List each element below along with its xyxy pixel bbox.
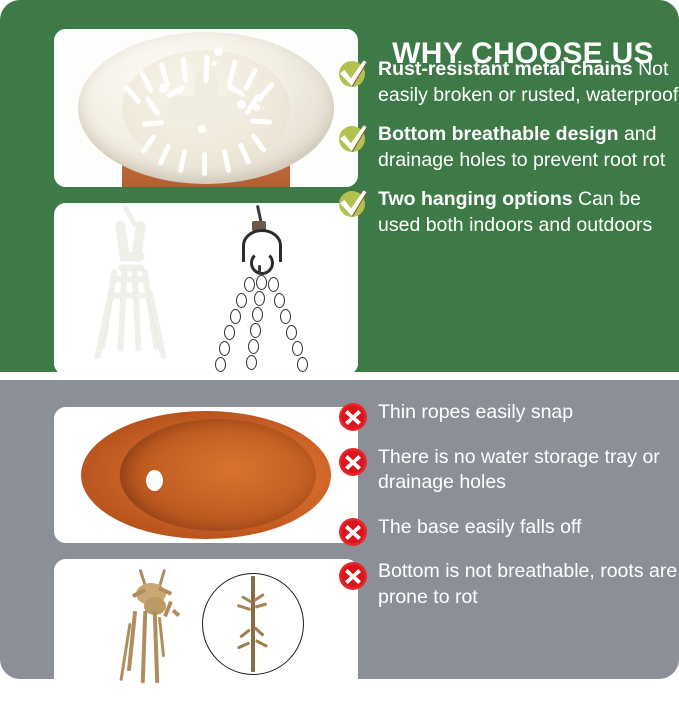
check-circle-icon bbox=[337, 58, 369, 90]
cons-photo-column bbox=[14, 391, 318, 706]
cons-list-item: The base easily falls off bbox=[333, 515, 679, 541]
pros-list-item: Bottom breathable design and drainage ho… bbox=[333, 122, 679, 173]
pros-item-bold: Rust-resistant metal chains bbox=[378, 58, 633, 80]
pros-list-item: Two hanging options Can be used both ind… bbox=[333, 187, 679, 238]
metal-chain-hanger bbox=[214, 203, 334, 375]
pros-item-text: Rust-resistant metal chains Not easily b… bbox=[378, 57, 679, 108]
pros-bullet-list: Rust-resistant metal chains Not easily b… bbox=[333, 57, 679, 252]
cons-list-item: Thin ropes easily snap bbox=[333, 400, 679, 426]
magnifier-circle bbox=[202, 573, 304, 675]
comparison-infographic: WHY CHOOSE US Rust-resistant metal chain… bbox=[0, 0, 679, 679]
cons-item-text: The base easily falls off bbox=[378, 515, 679, 541]
planter-base-drainage-photo bbox=[54, 29, 358, 187]
cons-panel: Thin ropes easily snap There is no water… bbox=[0, 380, 679, 679]
single-drain-hole bbox=[146, 470, 163, 491]
pros-list-item: Rust-resistant metal chains Not easily b… bbox=[333, 57, 679, 108]
pros-item-text: Two hanging options Can be used both ind… bbox=[378, 187, 679, 238]
pros-photo-column bbox=[14, 13, 318, 391]
cons-bullet-list: Thin ropes easily snap There is no water… bbox=[333, 400, 679, 629]
x-circle-icon bbox=[338, 402, 368, 432]
cons-item-text: There is no water storage tray or draina… bbox=[378, 445, 679, 496]
x-circle-icon bbox=[338, 561, 368, 591]
x-circle-icon bbox=[338, 517, 368, 547]
hangers-comparison-photo bbox=[54, 203, 358, 375]
pros-item-bold: Two hanging options bbox=[378, 188, 573, 210]
pros-item-text: Bottom breathable design and drainage ho… bbox=[378, 122, 679, 173]
cons-item-text: Thin ropes easily snap bbox=[378, 400, 679, 426]
pros-item-bold: Bottom breathable design bbox=[378, 123, 619, 145]
cons-list-item: There is no water storage tray or draina… bbox=[333, 445, 679, 496]
x-circle-icon bbox=[338, 447, 368, 477]
white-rope-hanger bbox=[98, 203, 208, 375]
cons-list-item: Bottom is not breathable, roots are pron… bbox=[333, 559, 679, 610]
check-circle-icon bbox=[337, 188, 369, 220]
terracotta-pot-single-hole-photo bbox=[54, 407, 358, 543]
frayed-jute-rope-photo bbox=[54, 559, 358, 690]
pros-panel: WHY CHOOSE US Rust-resistant metal chain… bbox=[0, 0, 679, 372]
check-circle-icon bbox=[337, 123, 369, 155]
cons-item-text: Bottom is not breathable, roots are pron… bbox=[378, 559, 679, 610]
